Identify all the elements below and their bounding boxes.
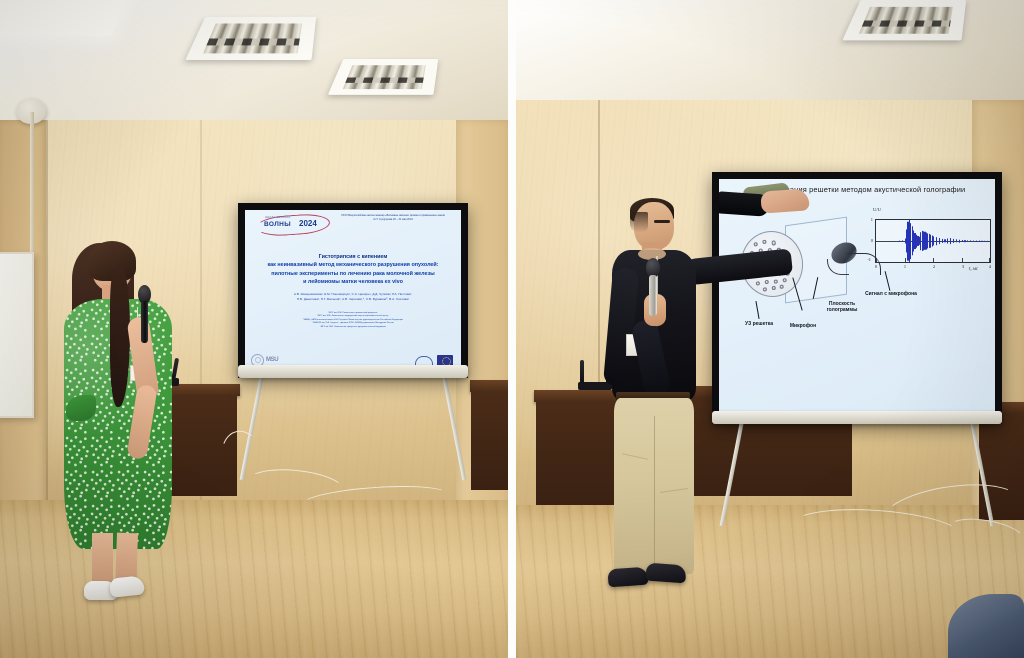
pants-fold xyxy=(660,488,688,493)
microphone-body xyxy=(649,275,657,316)
microphone-signal-plot xyxy=(875,219,991,263)
plot-y-axis-label: U/U xyxy=(873,207,881,212)
ceiling-light-fixture xyxy=(185,17,316,60)
black-sneaker xyxy=(645,563,686,584)
slide-title-line: как неинвазивный метод механического раз… xyxy=(251,261,455,269)
label-hologram-plane: Плоскость голограммы xyxy=(821,301,863,313)
beige-jeans xyxy=(614,398,694,574)
ceiling-light-fixture xyxy=(328,59,439,95)
conference-logo: ШКОЛА-СЕМИНАР ВОЛНЫ 2024 xyxy=(252,215,332,235)
x-tick-label: 4 xyxy=(986,264,994,269)
x-tick-label: 3 xyxy=(959,264,967,269)
y-tick-label: 0 xyxy=(865,238,873,243)
label-microphone: Микрофон xyxy=(783,323,823,329)
fixture-louver-grille xyxy=(343,65,426,89)
x-tick-label: 1 xyxy=(901,264,909,269)
y-axis-label-text: U/U xyxy=(873,207,881,212)
ceiling-skylight-glare xyxy=(0,0,129,36)
microphone xyxy=(138,285,151,343)
pants-fold xyxy=(622,453,648,460)
slide-surface: ШКОЛА-СЕМИНАР ВОЛНЫ 2024 XXXII Всероссий… xyxy=(245,210,461,371)
screen-frame: ШКОЛА-СЕМИНАР ВОЛНЫ 2024 XXXII Всероссий… xyxy=(238,203,468,378)
y-tick-label: 1 xyxy=(865,217,873,222)
x-tick-label: 0 xyxy=(872,264,880,269)
plot-waveform-trace xyxy=(876,220,990,262)
black-sneaker xyxy=(607,567,648,588)
callout-pointer xyxy=(885,271,891,291)
slide-title: Гистотрипсия с кипением как неинвазивный… xyxy=(251,253,455,287)
hair-fade xyxy=(630,212,648,232)
fixture-louver-grille xyxy=(859,7,952,34)
screenshot-stage: ШКОЛА-СЕМИНАР ВОЛНЫ 2024 XXXII Всероссий… xyxy=(0,0,1024,658)
fixture-louver-grille xyxy=(203,24,302,54)
projector-screen: ШКОЛА-СЕМИНАР ВОЛНЫ 2024 XXXII Всероссий… xyxy=(238,203,468,378)
affiliation-line: ⁵МГУ им. М.В. Ломоносова, факультет фунд… xyxy=(257,326,449,329)
pointing-arm xyxy=(683,248,793,285)
left-presentation-photo: ШКОЛА-СЕМИНАР ВОЛНЫ 2024 XXXII Всероссий… xyxy=(0,0,508,658)
author-line: Н.В. Данилова³, П.Г. Мальков³, А.В. Черн… xyxy=(255,297,451,302)
dress-tie-bow xyxy=(66,395,96,421)
screen-roller-case xyxy=(238,365,468,378)
right-presentation-photo: Характеризация решетки методом акустичес… xyxy=(516,0,1024,658)
slide-conference-header: XXXII Всероссийская школа-семинар «Волно… xyxy=(341,214,445,221)
microphone xyxy=(646,258,660,316)
eyebrow xyxy=(654,220,670,223)
desk-body xyxy=(471,391,508,490)
pants-seam xyxy=(654,416,655,574)
panel-divider xyxy=(508,0,516,658)
slide-title-line: и лейомиомы матки человека ex vivo xyxy=(251,278,455,286)
label-microphone-signal: Сигнал с микрофона xyxy=(857,291,925,297)
slide-authors: А.В. Кващенникова¹, Е.М. Пономарчук¹, С.… xyxy=(255,292,451,303)
male-presenter xyxy=(588,198,788,590)
white-sneaker xyxy=(109,575,145,597)
whiteboard xyxy=(0,252,34,418)
y-tick-label: -1 xyxy=(863,257,871,262)
ceiling-light-fixture xyxy=(842,0,966,40)
logo-year: 2024 xyxy=(299,219,317,228)
logo-superline: ШКОЛА-СЕМИНАР xyxy=(265,216,291,219)
desk xyxy=(470,380,508,490)
slide-title-line: Гистотрипсия с кипением xyxy=(251,253,455,261)
msu-wordmark-icon: MSU xyxy=(266,357,278,363)
slide-title-line: пилотные эксперименты по лечению рака мо… xyxy=(251,270,455,278)
plot-x-axis-label: t, мс xyxy=(969,267,978,272)
slide-affiliations: ¹МГУ им. М.В. Ломоносова, физический фак… xyxy=(257,312,449,329)
female-presenter xyxy=(58,245,182,600)
microphone-body xyxy=(141,301,148,343)
logo-wordmark: ВОЛНЫ xyxy=(264,221,291,228)
antenna xyxy=(580,360,584,384)
x-tick-label: 2 xyxy=(930,264,938,269)
wall-corner-seam xyxy=(46,120,48,540)
